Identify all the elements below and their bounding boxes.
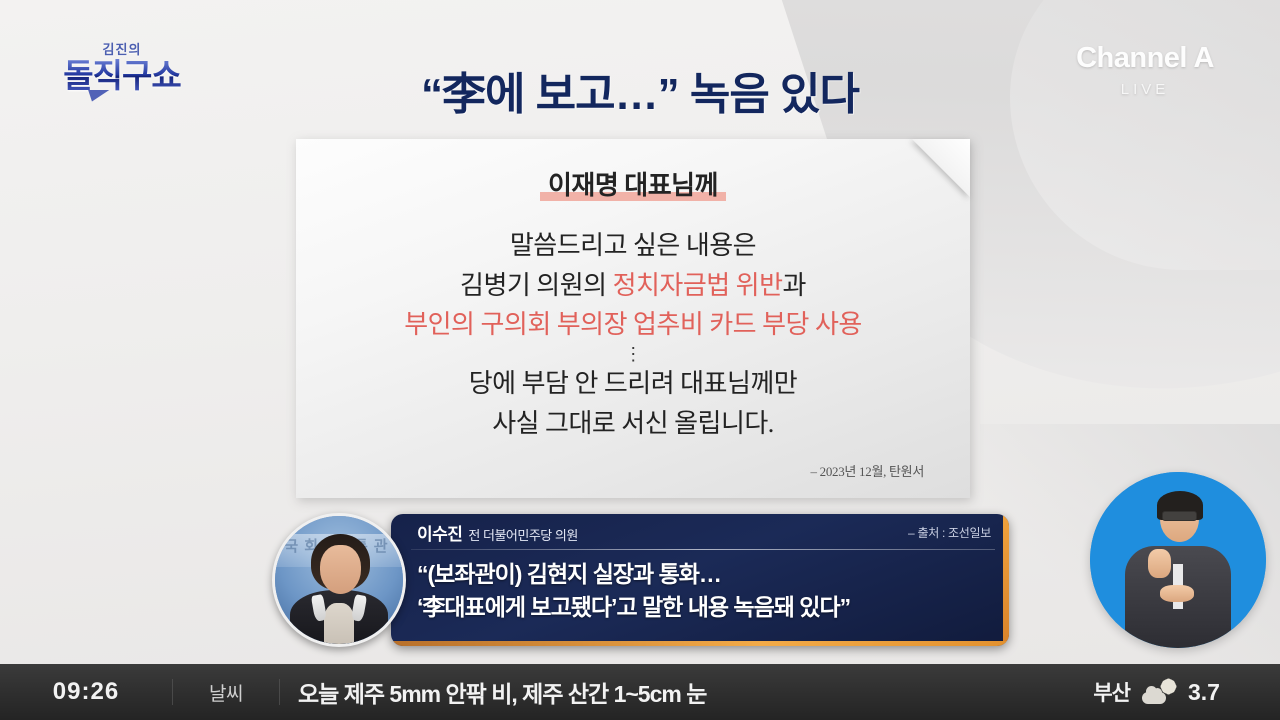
speaker-avatar: 국회 소통관 <box>272 513 406 647</box>
ticker-weather-widget: 부산 3.7 <box>1093 677 1280 707</box>
headline: “李에 보고…” 녹음 있다 <box>0 58 1280 122</box>
signer-glasses-icon <box>1162 511 1197 522</box>
document-line-4-seg-1: 당에 부담 안 드리려 대표님께만 <box>469 369 797 398</box>
ticker-clock: 09:26 <box>0 678 172 706</box>
lower-third-bottom-accent <box>391 641 1009 646</box>
document-line-2-seg-2-highlight: 정치자금법 위반 <box>613 271 783 300</box>
document-line-2-seg-3: 과 <box>783 271 806 300</box>
ticker-divider-2 <box>279 679 280 705</box>
source-attribution: – 출처 : 조선일보 <box>908 524 991 541</box>
signer-hand-lower <box>1160 585 1193 603</box>
document-vertical-ellipsis: ⋮ <box>624 345 642 365</box>
speaker-name: 이수진 <box>417 525 462 544</box>
sun-icon <box>1161 679 1176 694</box>
weather-city: 부산 <box>1093 677 1130 707</box>
ticker-category-label: 날씨 <box>173 679 279 706</box>
speaker-identity: 이수진전 더불어민주당 의원 <box>417 520 578 545</box>
document-line-5: 사실 그대로 서신 올립니다. <box>492 404 774 444</box>
cloud-icon <box>1142 692 1166 704</box>
document-card: 이재명 대표님께 말씀드리고 싶은 내용은 김병기 의원의 정치자금법 위반과 … <box>296 139 970 498</box>
document-line-1: 말씀드리고 싶은 내용은 <box>510 226 756 266</box>
document-line-2-seg-1: 김병기 의원의 <box>460 271 613 300</box>
document-line-3: 부인의 구의회 부의장 업추비 카드 부당 사용 <box>404 305 862 345</box>
broadcast-stage: 김진의 돌직구쇼 Channel A LIVE “李에 보고…” 녹음 있다 이… <box>0 0 1280 720</box>
lower-third-body: “(보좌관이) 김현지 실장과 통화… ‘李대표에게 보고됐다’고 말한 내용 … <box>391 550 1009 623</box>
document-line-4: 당에 부담 안 드리려 대표님께만 <box>469 364 797 404</box>
weather-temperature: 3.7 <box>1188 679 1240 706</box>
ticker-divider-1 <box>172 679 173 705</box>
signer-hand-upper <box>1148 549 1171 577</box>
lower-third-header: 이수진전 더불어민주당 의원 – 출처 : 조선일보 <box>391 514 1009 550</box>
partly-cloudy-icon <box>1142 679 1176 705</box>
bottom-ticker-bar: 09:26 날씨 오늘 제주 5mm 안팎 비, 제주 산간 1~5cm 눈 부… <box>0 664 1280 720</box>
quote-line-1: “(보좌관이) 김현지 실장과 통화… <box>417 558 989 591</box>
lower-third-panel: 이수진전 더불어민주당 의원 – 출처 : 조선일보 “(보좌관이) 김현지 실… <box>391 514 1009 646</box>
avatar-shirt <box>324 603 355 644</box>
document-line-1-seg-1: 말씀드리고 싶은 내용은 <box>510 231 756 260</box>
document-line-3-seg-1-highlight: 부인의 구의회 부의장 업추비 카드 부당 사용 <box>404 310 862 339</box>
speaker-title: 전 더불어민주당 의원 <box>468 528 577 543</box>
document-title-wrap: 이재명 대표님께 <box>548 165 718 202</box>
document-line-2: 김병기 의원의 정치자금법 위반과 <box>460 266 806 306</box>
document-line-5-seg-1: 사실 그대로 서신 올립니다. <box>492 409 774 438</box>
ticker-headline-text: 오늘 제주 5mm 안팎 비, 제주 산간 1~5cm 눈 <box>280 675 1093 709</box>
avatar-face <box>320 545 361 594</box>
program-logo-top-text: 김진의 <box>103 39 142 58</box>
sign-language-interpreter-window <box>1090 472 1266 648</box>
document-credit: – 2023년 12월, 탄원서 <box>810 461 924 480</box>
quote-line-2: ‘李대표에게 보고됐다’고 말한 내용 녹음돼 있다” <box>417 591 989 624</box>
document-title: 이재명 대표님께 <box>548 165 718 202</box>
